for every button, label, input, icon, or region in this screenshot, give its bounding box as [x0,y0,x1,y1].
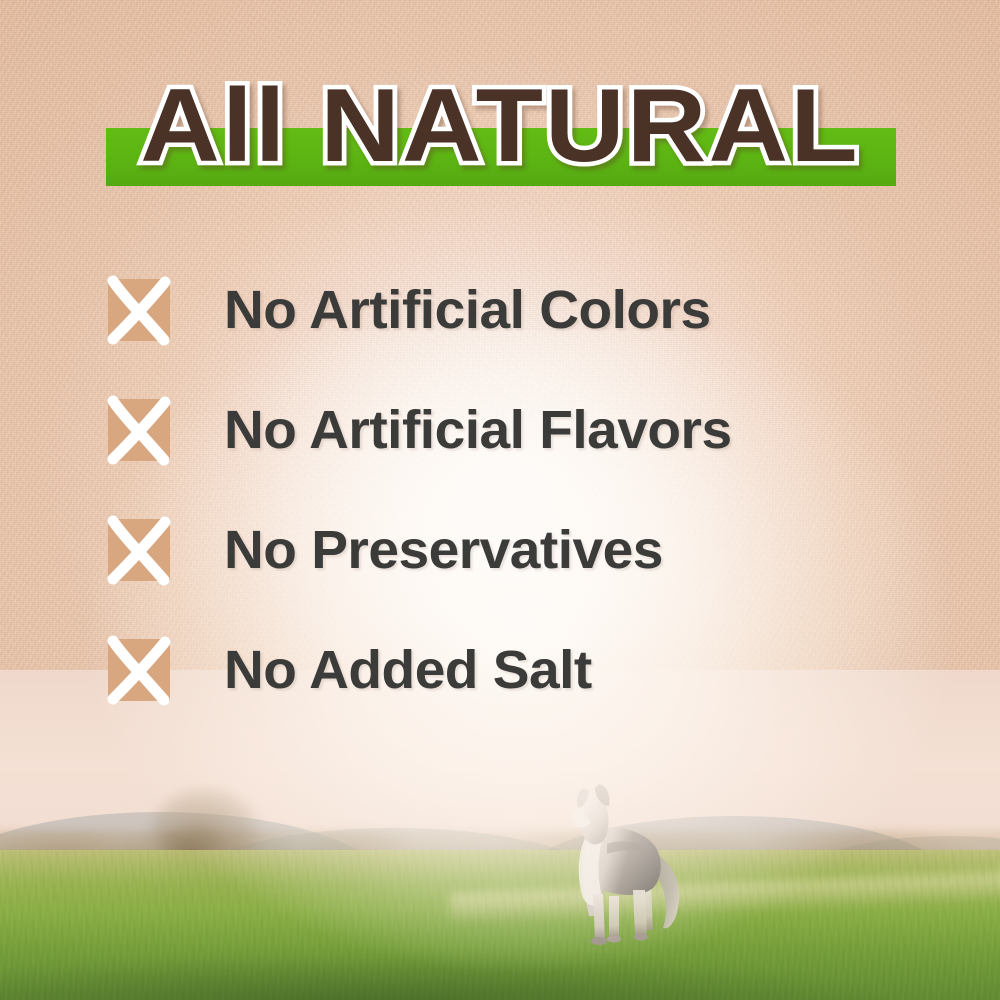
all-natural-benefits-poster: All NATURAL No Artificial Colors No Arti… [0,0,1000,1000]
benefit-label: No Preservatives [224,519,663,581]
x-mark-icon [108,399,170,461]
list-item: No Artificial Flavors [108,370,928,490]
benefit-label: No Added Salt [224,639,592,701]
page-title: All NATURAL [0,70,1000,182]
benefit-label: No Artificial Flavors [224,399,732,461]
grass-shadow [0,944,1000,1000]
list-item: No Added Salt [108,610,928,730]
dog-silhouette [537,758,697,958]
x-mark-icon [108,519,170,581]
list-item: No Artificial Colors [108,250,928,370]
benefits-list: No Artificial Colors No Artificial Flavo… [108,250,928,730]
list-item: No Preservatives [108,490,928,610]
x-mark-icon [108,279,170,341]
headline-area: All NATURAL [0,70,1000,195]
x-mark-icon [108,639,170,701]
benefit-label: No Artificial Colors [224,279,711,341]
